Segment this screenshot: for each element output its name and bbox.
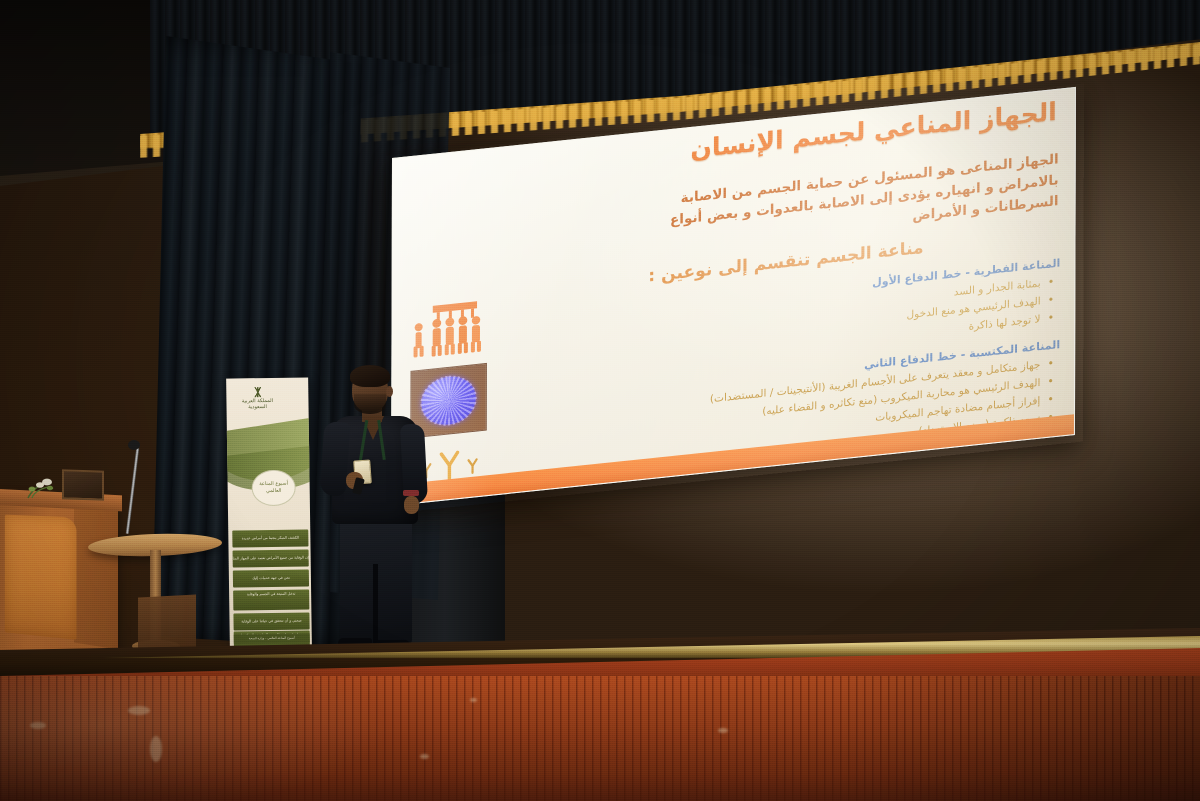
crest-icon <box>251 387 264 397</box>
banner-footer: أسبوع المناعة العالمي - وزارة الصحة <box>234 633 310 643</box>
presenter-leg-gap <box>373 564 378 646</box>
stage-front-panel <box>0 676 1200 801</box>
paint-scuff <box>150 736 162 762</box>
paint-scuff <box>420 754 429 759</box>
presenter <box>318 368 436 652</box>
banner-logo-text: المملكة العربية السعودية <box>242 398 273 410</box>
presenter-hand-right <box>404 496 419 514</box>
projection-screen: الجهاز المناعي لجسم الإنسان الجهاز المنا… <box>392 158 1072 508</box>
paint-scuff <box>718 728 728 733</box>
banner-bar: الكشف المبكر ينجينا من أمراض عديدة <box>232 529 308 547</box>
banner-bar: إن الوقاية من جميع الأمراض تعتمد على الج… <box>233 549 309 567</box>
presenter-beard <box>354 394 386 414</box>
banner-logo: المملكة العربية السعودية <box>235 387 279 414</box>
presenter-ear <box>386 386 393 397</box>
banner-circle-badge: أسبوع المناعة العالمي <box>251 470 295 507</box>
lectern-front-panel <box>5 515 77 640</box>
photo-scene: الجهاز المناعي لجسم الإنسان الجهاز المنا… <box>0 0 1200 801</box>
presenter-arm-left <box>319 421 350 497</box>
presenter-hair <box>350 365 390 387</box>
flower-arrangement <box>22 476 56 500</box>
people-barrier-icon <box>409 297 496 360</box>
framed-plaque <box>62 469 104 500</box>
banner-bar: تدخل المنيعة في الجسم والوقاية <box>233 589 309 610</box>
stage-chair <box>138 594 196 653</box>
microphone-icon <box>128 440 140 450</box>
banner-bar: نحن في جهة خدمات إليك <box>233 569 309 587</box>
paint-scuff <box>470 698 477 702</box>
slide-intro-paragraph: الجهاز المناعى هو المسئول عن حماية الجسم… <box>556 149 1059 264</box>
presentation-slide: الجهاز المناعي لجسم الإنسان الجهاز المنا… <box>391 87 1076 506</box>
paint-scuff <box>128 706 150 715</box>
lectern-side <box>74 503 118 650</box>
wristwatch <box>403 490 419 496</box>
paint-scuff <box>30 722 46 729</box>
rollup-banner: المملكة العربية السعودية أسبوع المناعة ا… <box>226 377 312 646</box>
banner-bar: صحتي و أن تتحقق في حياتنا على الوقاية <box>233 612 309 630</box>
